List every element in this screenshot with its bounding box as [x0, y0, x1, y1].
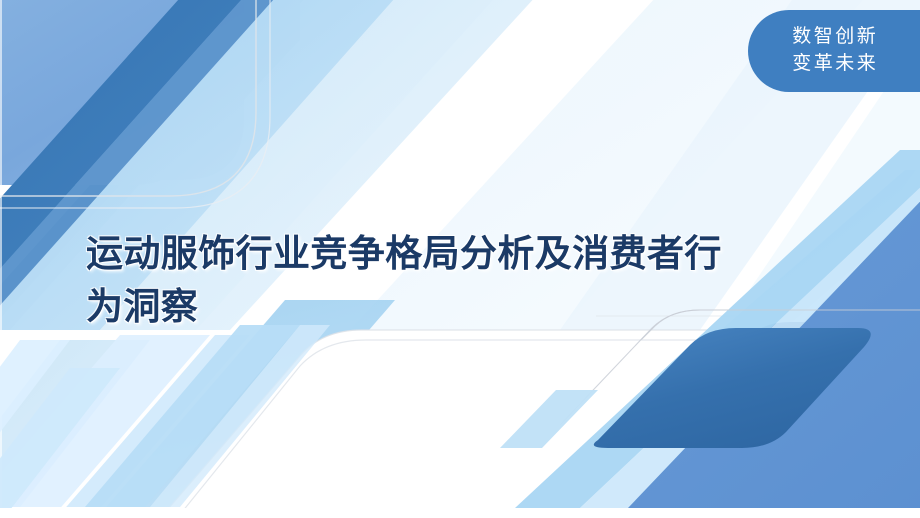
branding-badge: 数智创新 变革未来	[748, 10, 920, 92]
page-title-line-2: 为洞察	[86, 281, 806, 334]
page-title: 运动服饰行业竞争格局分析及消费者行 为洞察	[86, 228, 806, 333]
page-title-line-1: 运动服饰行业竞争格局分析及消费者行	[86, 228, 806, 281]
badge-line-1: 数智创新	[790, 24, 879, 51]
title-slide: 数智创新 变革未来 运动服饰行业竞争格局分析及消费者行 为洞察	[0, 0, 920, 518]
bottom-white-strip-final	[0, 508, 920, 518]
badge-line-2: 变革未来	[790, 51, 879, 78]
left-white-strip	[0, 0, 2, 518]
